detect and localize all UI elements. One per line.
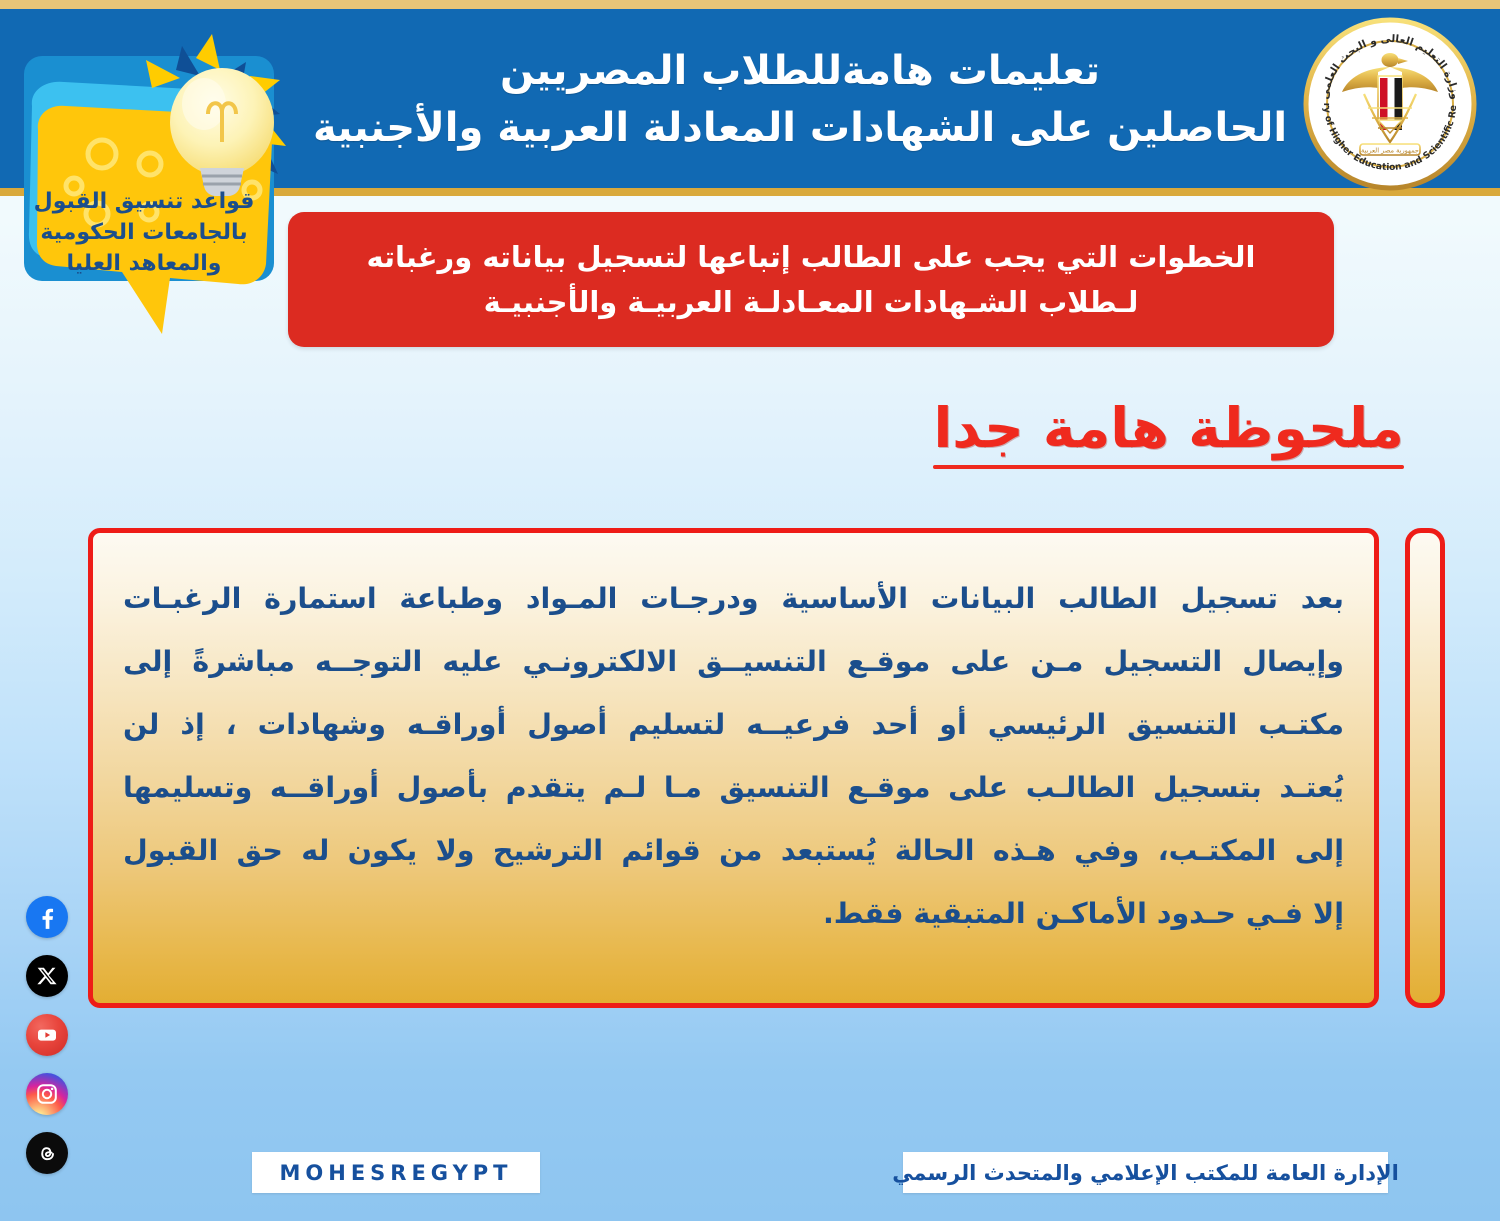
important-note-heading: ملحوظة هامة جدا [933, 398, 1404, 469]
steps-banner-line-2: لـطلاب الشـهادات المعـادلـة العربيـة وال… [484, 285, 1139, 320]
social-links [20, 896, 74, 1174]
note-line-6: إلا فـي حـدود الأماكـن المتبقية فقط. [123, 882, 1344, 945]
footer-handle-badge: MOHESREGYPT [252, 1152, 540, 1193]
facebook-icon[interactable] [26, 896, 68, 938]
important-note-underline [933, 465, 1404, 469]
note-line-4: يُعتـد بتسجيل الطالـب على موقـع التنسيق … [123, 756, 1344, 819]
note-content-box: بعد تسجيل الطالب البيانات الأساسية ودرجـ… [88, 528, 1379, 1008]
threads-icon[interactable] [26, 1132, 68, 1174]
footer-office-text: الإدارة العامة للمكتب الإعلامي والمتحدث … [892, 1161, 1399, 1185]
steps-banner-line-1: الخطوات التي يجب على الطالب إتباعها لتسج… [367, 240, 1256, 275]
note-line-3: مكتـب التنسيق الرئيسي أو أحد فرعيــه لتس… [123, 693, 1344, 756]
decorative-side-bar [1405, 528, 1445, 1008]
page-title-line-1: تعليمات هامةللطلاب المصريين [500, 48, 1100, 95]
page-title-line-2: الحاصلين على الشهادات المعادلة العربية و… [313, 105, 1287, 152]
speech-bubble-svg [0, 18, 294, 348]
x-icon[interactable] [26, 955, 68, 997]
note-line-2: وإيصال التسجيل مـن على موقـع التنسيــق ا… [123, 630, 1344, 693]
important-note-heading-text: ملحوظة هامة جدا [933, 398, 1404, 459]
note-line-5: إلى المكتـب، وفي هـذه الحالة يُستبعد من … [123, 819, 1344, 882]
steps-banner: الخطوات التي يجب على الطالب إتباعها لتسج… [288, 212, 1334, 347]
admission-rules-badge: قواعد تنسيق القبول بالجامعات الحكومية وا… [0, 18, 294, 348]
svg-text:جمهورية مصر العربية: جمهورية مصر العربية [1361, 147, 1419, 155]
ministry-logo-svg: وزارة التعليم العالى و البحث العلمى Mini… [1302, 16, 1478, 192]
youtube-icon[interactable] [26, 1014, 68, 1056]
footer-office-badge: الإدارة العامة للمكتب الإعلامي والمتحدث … [903, 1152, 1388, 1193]
note-content-text: بعد تسجيل الطالب البيانات الأساسية ودرجـ… [93, 533, 1374, 1003]
footer-handle-text: MOHESREGYPT [280, 1161, 513, 1185]
infographic-page: تعليمات هامةللطلاب المصريين الحاصلين على… [0, 0, 1500, 1221]
note-line-1: بعد تسجيل الطالب البيانات الأساسية ودرجـ… [123, 567, 1344, 630]
ministry-logo: وزارة التعليم العالى و البحث العلمى Mini… [1302, 16, 1478, 192]
instagram-icon[interactable] [26, 1073, 68, 1115]
page-title: تعليمات هامةللطلاب المصريين الحاصلين على… [300, 14, 1300, 186]
